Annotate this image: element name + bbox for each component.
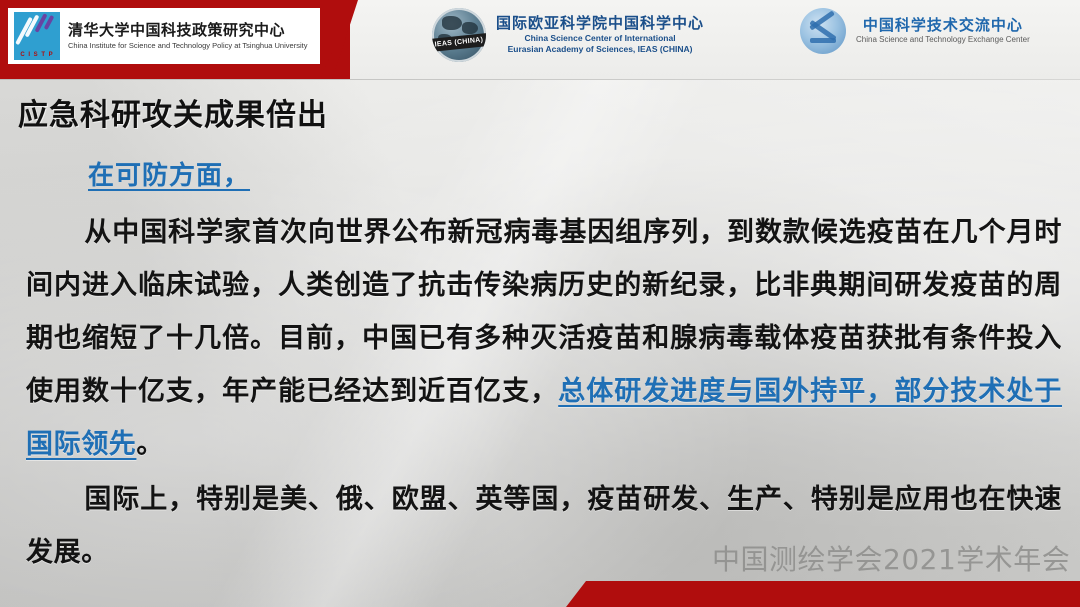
ieas-logo-block: IEAS (CHINA) 国际欧亚科学院中国科学中心 China Science…: [432, 8, 704, 62]
slide-body: 在可防方面， 从中国科学家首次向世界公布新冠病毒基因组序列，到数款候选疫苗在几个…: [26, 155, 1062, 579]
globe-icon: IEAS (CHINA): [432, 8, 486, 62]
cstec-name-en: China Science and Technology Exchange Ce…: [856, 35, 1030, 46]
page-title: 应急科研攻关成果倍出: [18, 90, 328, 134]
cistp-logo-icon: C I S T P: [14, 12, 60, 60]
conference-watermark: 中国测绘学会2021学术年会: [712, 538, 1070, 578]
header-divider: [0, 79, 1080, 80]
tsinghua-logo-block: C I S T P 清华大学中国科技政策研究中心 China Institute…: [8, 8, 320, 64]
tsinghua-name-cn: 清华大学中国科技政策研究中心: [68, 22, 307, 39]
tsinghua-name-en: China Institute for Science and Technolo…: [68, 41, 307, 50]
cstec-logo-icon: [800, 8, 846, 54]
ieas-name-en-line1: China Science Center of International: [524, 33, 675, 44]
cstec-name-cn: 中国科学技术交流中心: [863, 16, 1023, 35]
ieas-emblem-text: IEAS (CHINA): [434, 36, 483, 48]
cstec-logo-block: 中国科学技术交流中心 China Science and Technology …: [800, 8, 1030, 54]
footer-red-bar: [586, 581, 1080, 607]
red-banner-slant: [332, 0, 358, 80]
paragraph-1-segment-2: 。: [136, 429, 164, 460]
slide-header: C I S T P 清华大学中国科技政策研究中心 China Institute…: [0, 0, 1080, 80]
cistp-logo-letters: C I S T P: [14, 52, 60, 58]
slide-canvas: C I S T P 清华大学中国科技政策研究中心 China Institute…: [0, 0, 1080, 607]
ieas-name-en-line2: Eurasian Academy of Sciences, IEAS (CHIN…: [508, 44, 693, 55]
body-paragraph-1: 从中国科学家首次向世界公布新冠病毒基因组序列，到数款候选疫苗在几个月时间内进入临…: [26, 206, 1062, 471]
ieas-name-cn: 国际欧亚科学院中国科学中心: [496, 14, 704, 33]
section-lead-heading: 在可防方面，: [88, 155, 1062, 192]
